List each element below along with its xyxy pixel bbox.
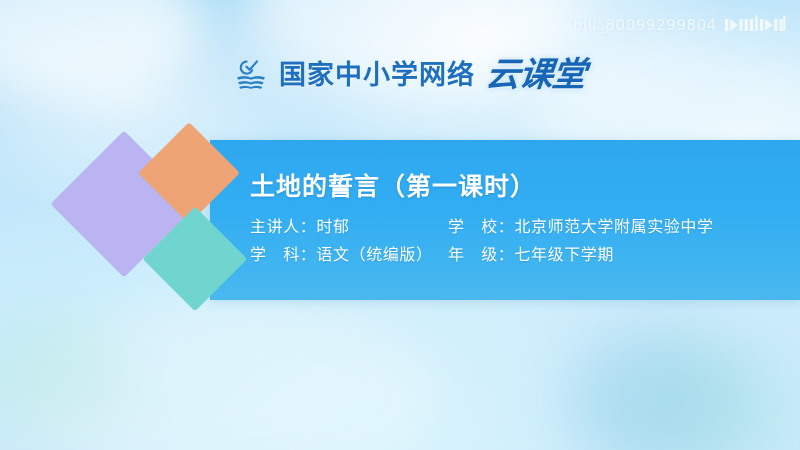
meta-subject: 学 科：语文（统编版） <box>250 241 448 269</box>
bilibili-logo <box>724 14 786 36</box>
meta-school: 学 校：北京师范大学附属实验中学 <box>448 213 714 241</box>
brand-title: 国家中小学网络 <box>279 62 475 89</box>
watermark-username: bili_80099299804 <box>573 16 717 34</box>
watermark: bili_80099299804 <box>573 14 786 36</box>
lesson-title: 土地的誓言（第一课时） <box>250 172 800 202</box>
brand-header: 国家中小学网络 云课堂 <box>234 57 585 93</box>
brand-title-script: 云课堂 <box>484 58 587 92</box>
video-title-slide: bili_80099299804 <box>0 0 800 450</box>
meta-presenter: 主讲人：时郁 <box>250 213 448 241</box>
open-book-check-logo <box>234 57 270 93</box>
lesson-meta-row: 学 科：语文（统编版） 年 级：七年级下学期 <box>250 241 800 269</box>
meta-grade: 年 级：七年级下学期 <box>448 241 614 269</box>
lesson-meta-row: 主讲人：时郁 学 校：北京师范大学附属实验中学 <box>250 213 800 241</box>
lesson-info-banner: 土地的誓言（第一课时） 主讲人：时郁 学 校：北京师范大学附属实验中学 学 科：… <box>210 140 800 300</box>
